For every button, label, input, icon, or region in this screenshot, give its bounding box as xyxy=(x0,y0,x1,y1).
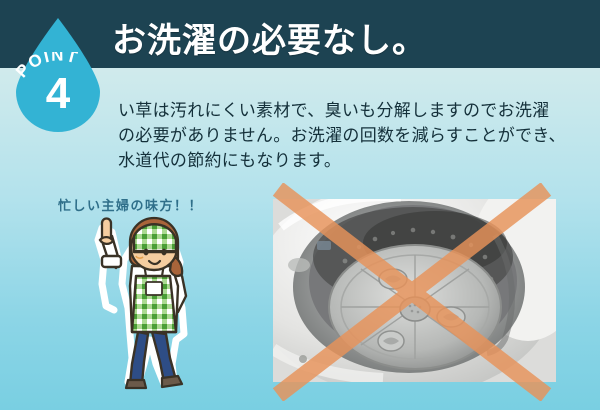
bandana xyxy=(134,224,176,252)
housewife-illustration xyxy=(72,214,212,396)
point-4-panel: お洗濯の必要なし。 POINT 4 い草は汚れにくい素材で、臭いも分解しますので… xyxy=(0,0,600,410)
washing-machine-photo xyxy=(273,199,556,382)
caption-text: 忙しい主婦の味方！！ xyxy=(58,195,203,214)
badge-number: 4 xyxy=(14,72,102,116)
page-title: お洗濯の必要なし。 xyxy=(112,13,427,62)
body-line-1: い草は汚れにくい素材で、臭いも分解しますのでお洗濯 xyxy=(118,98,580,123)
washing-machine-drum-image xyxy=(273,199,556,382)
body-line-3: 水道代の節約にもなります。 xyxy=(118,148,580,173)
body-line-2: の必要がありません。お洗濯の回数を減らすことができ、 xyxy=(118,123,580,148)
point-badge: POINT 4 xyxy=(14,16,102,132)
body-text: い草は汚れにくい素材で、臭いも分解しますのでお洗濯 の必要がありません。お洗濯の… xyxy=(118,98,580,173)
